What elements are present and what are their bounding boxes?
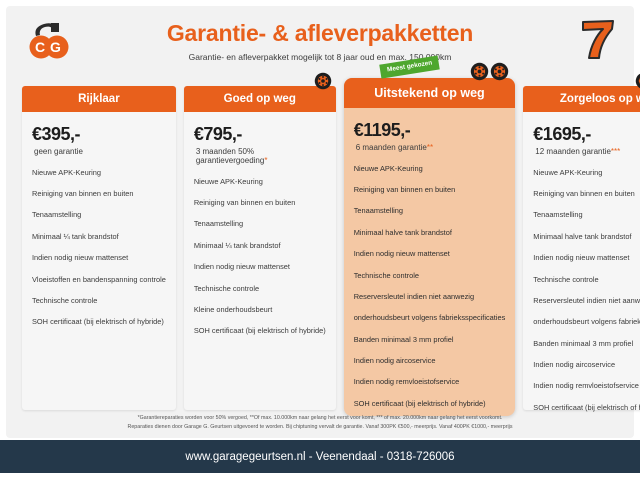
list-item: Vloeistoffen en bandenspanning controle [32, 276, 166, 285]
package-price-stars: * [264, 156, 267, 165]
tire-icon [635, 72, 640, 90]
package-columns: Rijklaar €395,- geen garantie Nieuwe APK… [22, 86, 618, 410]
list-item: Minimaal halve tank brandstof [533, 233, 640, 242]
list-item: Kleine onderhoudsbeurt [194, 306, 326, 315]
tire-rating [314, 72, 332, 90]
list-item: Banden minimaal 3 mm profiel [354, 336, 506, 345]
tire-icon [314, 72, 332, 90]
list-item: SOH certificaat (bij elektrisch of hybri… [533, 404, 640, 413]
list-item: onderhoudsbeurt volgens fabrieksspecific… [533, 318, 640, 327]
list-item: Tenaamstelling [533, 211, 640, 220]
tire-icon [490, 62, 509, 81]
package-price: €1195,- [354, 120, 506, 141]
list-item: Tenaamstelling [354, 207, 506, 216]
package-title: Rijklaar [22, 86, 176, 112]
feature-list: Nieuwe APK-Keuring Reiniging van binnen … [32, 169, 166, 328]
page-title: Garantie- & afleverpakketten [6, 20, 634, 47]
list-item: Technische controle [533, 276, 640, 285]
list-item: SOH certificaat (bij elektrisch of hybri… [194, 327, 326, 336]
feature-list: Nieuwe APK-Keuring Reiniging van binnen … [533, 169, 640, 413]
list-item: Minimaal ¼ tank brandstof [194, 242, 326, 251]
package-body: €395,- geen garantie Nieuwe APK-Keuring … [22, 112, 176, 348]
list-item: Minimaal ¼ tank brandstof [32, 233, 166, 242]
contact-footer-bar: www.garagegeurtsen.nl - Veenendaal - 031… [0, 440, 640, 473]
page-subtitle: Garantie- en afleverpakket mogelijk tot … [6, 52, 634, 62]
package-price-sub: 3 maanden 50% garantievergoeding* [196, 147, 326, 165]
list-item: Reiniging van binnen en buiten [32, 190, 166, 199]
package-body: €795,- 3 maanden 50% garantievergoeding*… [184, 112, 336, 357]
feature-list: Nieuwe APK-Keuring Reiniging van binnen … [194, 178, 326, 337]
contact-footer-text[interactable]: www.garagegeurtsen.nl - Veenendaal - 031… [185, 451, 454, 463]
package-card-zorgeloos-op-weg[interactable]: Zorgeloos op weg €1695,- 12 maanden gara… [523, 86, 640, 410]
package-title: Zorgeloos op weg [523, 86, 640, 112]
package-price-sub: 6 maanden garantie** [356, 143, 506, 152]
package-card-rijklaar[interactable]: Rijklaar €395,- geen garantie Nieuwe APK… [22, 86, 176, 410]
footnote-line-2: Reparaties dienen door Garage G. Geurtse… [6, 423, 634, 432]
list-item: Reiniging van binnen en buiten [354, 186, 506, 195]
package-price: €395,- [32, 124, 166, 145]
content-board: C G Garantie- & afleverpakketten Garanti… [6, 6, 634, 438]
list-item: Reserversleutel indien niet aanwezig [533, 297, 640, 306]
list-item: Nieuwe APK-Keuring [533, 169, 640, 178]
list-item: Indien nodig nieuw mattenset [533, 254, 640, 263]
list-item: Reiniging van binnen en buiten [194, 199, 326, 208]
package-price-stars: ** [427, 143, 433, 152]
package-price: €1695,- [533, 124, 640, 145]
list-item: SOH certificaat (bij elektrisch of hybri… [354, 400, 506, 409]
tire-icon [470, 62, 489, 81]
tire-rating [635, 72, 640, 90]
list-item: Reserversleutel indien niet aanwezig [354, 293, 506, 302]
list-item: onderhoudsbeurt volgens fabrieksspecific… [354, 314, 506, 323]
package-body: €1195,- 6 maanden garantie** Nieuwe APK-… [344, 108, 516, 429]
package-card-uitstekend-op-weg[interactable]: Meest gekozen [344, 78, 516, 416]
list-item: Minimaal halve tank brandstof [354, 229, 506, 238]
list-item: Indien nodig nieuw mattenset [354, 250, 506, 259]
footnotes: *Garantiereparaties worden voor 50% verg… [6, 414, 634, 433]
list-item: Indien nodig aircoservice [354, 357, 506, 366]
package-price-sub-text: 6 maanden garantie [356, 143, 427, 152]
package-body: €1695,- 12 maanden garantie*** Nieuwe AP… [523, 112, 640, 433]
package-price-sub: 12 maanden garantie*** [535, 147, 640, 156]
list-item: Indien nodig nieuw mattenset [32, 254, 166, 263]
list-item: Banden minimaal 3 mm profiel [533, 340, 640, 349]
package-title: Uitstekend op weg [344, 78, 516, 108]
package-price-sub: geen garantie [34, 147, 166, 156]
list-item: Nieuwe APK-Keuring [32, 169, 166, 178]
list-item: Nieuwe APK-Keuring [354, 165, 506, 174]
list-item: Technische controle [32, 297, 166, 306]
list-item: Nieuwe APK-Keuring [194, 178, 326, 187]
list-item: Technische controle [194, 285, 326, 294]
package-price-sub-text: geen garantie [34, 147, 83, 156]
list-item: Tenaamstelling [32, 211, 166, 220]
feature-list: Nieuwe APK-Keuring Reiniging van binnen … [354, 165, 506, 409]
poster-header: C G Garantie- & afleverpakketten Garanti… [6, 6, 634, 72]
package-price: €795,- [194, 124, 326, 145]
package-price-sub-text: 12 maanden garantie [535, 147, 611, 156]
list-item: Reiniging van binnen en buiten [533, 190, 640, 199]
poster-page: C G Garantie- & afleverpakketten Garanti… [0, 0, 640, 480]
package-price-sub-text: 3 maanden 50% garantievergoeding [196, 147, 265, 165]
list-item: Indien nodig remvloeistofservice [354, 378, 506, 387]
list-item: Indien nodig remvloeistofservice [533, 382, 640, 391]
list-item: Technische controle [354, 272, 506, 281]
package-price-stars: *** [611, 147, 620, 156]
footnote-line-1: *Garantiereparaties worden voor 50% verg… [6, 414, 634, 423]
tire-rating [470, 62, 509, 81]
package-card-goed-op-weg[interactable]: Goed op weg €795,- 3 maanden 50% garanti… [184, 86, 336, 410]
list-item: Tenaamstelling [194, 220, 326, 229]
list-item: SOH certificaat (bij elektrisch of hybri… [32, 318, 166, 327]
list-item: Indien nodig aircoservice [533, 361, 640, 370]
list-item: Indien nodig nieuw mattenset [194, 263, 326, 272]
